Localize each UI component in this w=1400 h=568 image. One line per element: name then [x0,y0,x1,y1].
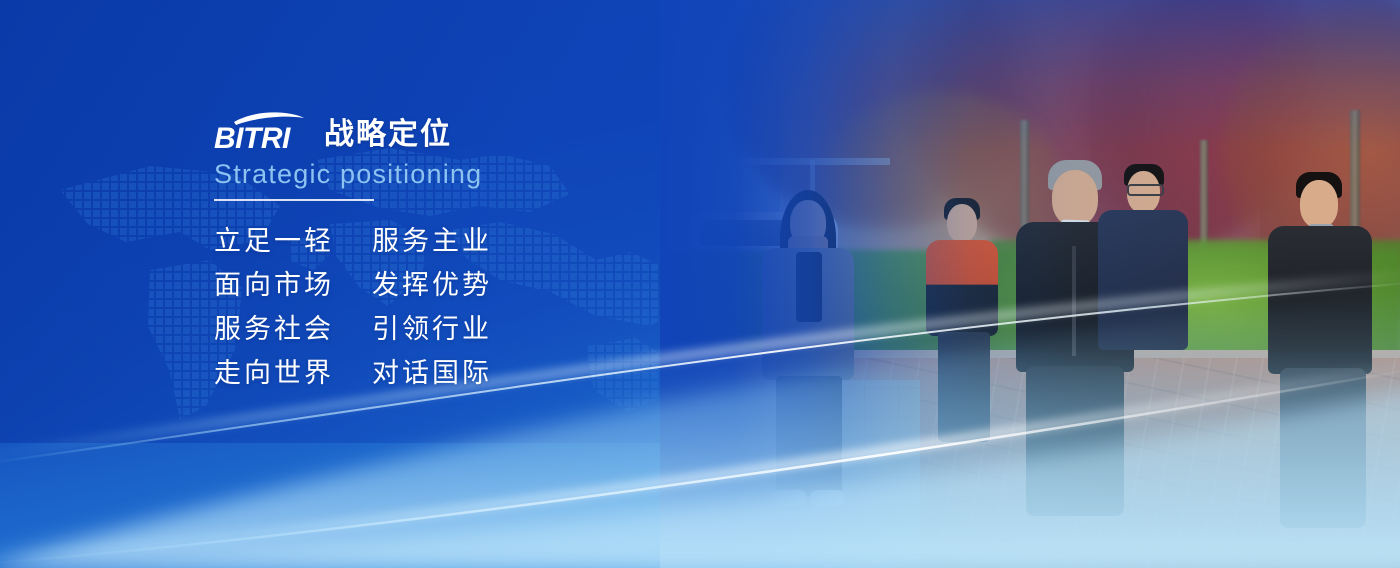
slogan-right: 发挥优势 [372,263,492,307]
headline-block: BITRI 战略定位 Strategic positioning 立足一轻 服务… [214,106,774,395]
strategic-positioning-banner: BITRI 战略定位 Strategic positioning 立足一轻 服务… [0,0,1400,568]
logo-row: BITRI 战略定位 [214,106,774,152]
bitri-logo: BITRI [214,108,310,152]
slogan-left: 服务社会 [214,307,348,351]
slogan-row: 立足一轻 服务主业 [214,219,774,263]
slogan-right: 对话国际 [372,351,492,395]
slogan-row: 服务社会 引领行业 [214,307,774,351]
slogan-list: 立足一轻 服务主业 面向市场 发挥优势 服务社会 引领行业 走向世界 对话国际 [214,219,774,395]
logo-title-en: Strategic positioning [214,158,774,190]
slogan-right: 引领行业 [372,307,492,351]
slogan-left: 立足一轻 [214,219,348,263]
logo-title-cn: 战略定位 [324,118,452,152]
title-divider [214,199,374,201]
slogan-left: 走向世界 [214,351,348,395]
svg-text:BITRI: BITRI [214,122,291,152]
slogan-row: 走向世界 对话国际 [214,351,774,395]
slogan-row: 面向市场 发挥优势 [214,263,774,307]
slogan-left: 面向市场 [214,263,348,307]
slogan-right: 服务主业 [372,219,492,263]
